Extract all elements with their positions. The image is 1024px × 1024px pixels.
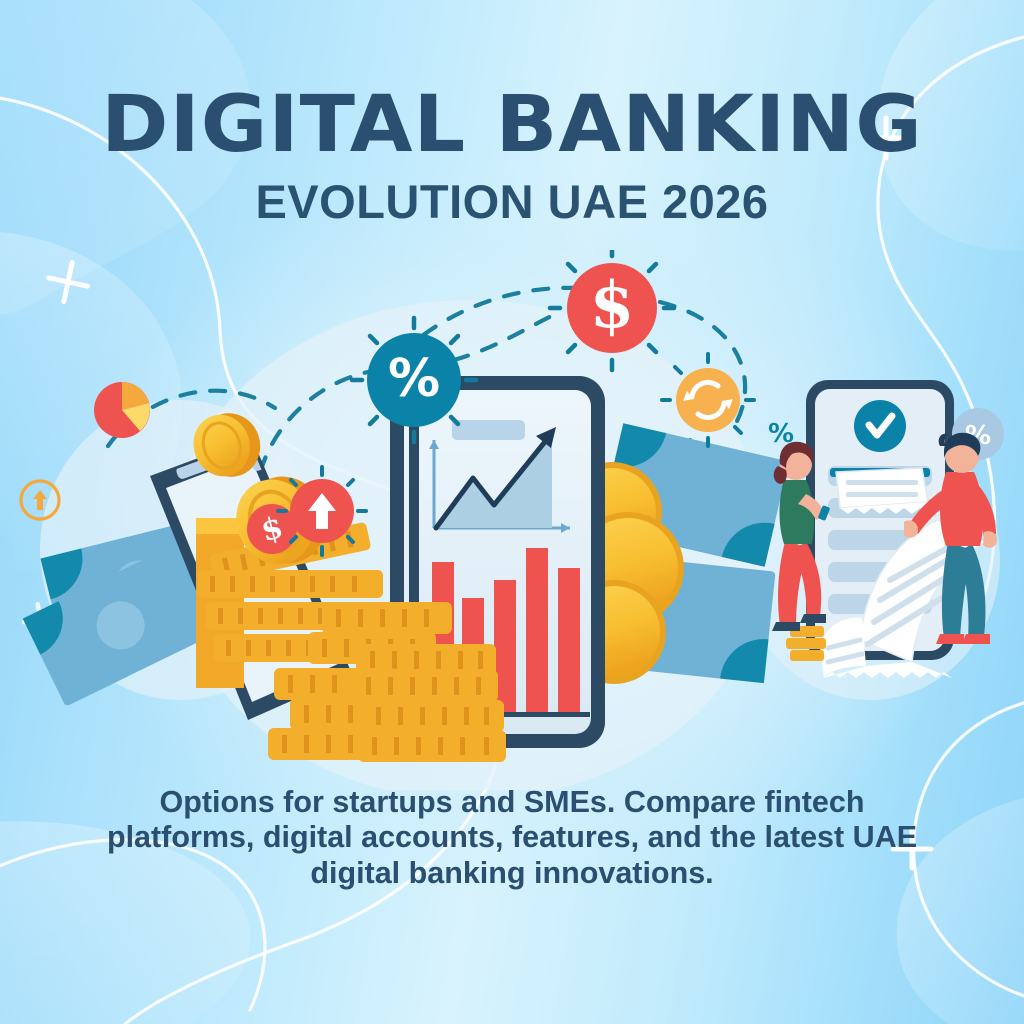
title-block: DIGITAL BANKING EVOLUTION UAE 2026 bbox=[0, 86, 1024, 225]
man-shoe-1 bbox=[936, 634, 964, 644]
coin-slab bbox=[358, 730, 506, 762]
woman-shoe-1 bbox=[772, 622, 800, 631]
page-title: DIGITAL BANKING bbox=[0, 86, 1024, 164]
coin-slab bbox=[362, 700, 504, 732]
dollar-badge-small-icon: $ bbox=[247, 504, 297, 554]
woman-torso bbox=[780, 480, 815, 544]
dollar-badge-group: $ bbox=[550, 250, 674, 370]
receipt-top bbox=[836, 468, 936, 514]
svg-text:$: $ bbox=[590, 268, 635, 343]
caption-block: Options for startups and SMEs. Compare f… bbox=[90, 785, 934, 891]
small-coin-stack bbox=[786, 626, 826, 661]
caption-text: Options for startups and SMEs. Compare f… bbox=[90, 785, 934, 891]
pie-chart-icon bbox=[94, 382, 150, 438]
svg-text:%: % bbox=[388, 349, 440, 409]
hero-illustration: $ bbox=[0, 250, 1024, 790]
man-shoe-2 bbox=[962, 634, 990, 644]
coin-slab bbox=[352, 670, 498, 702]
bar-5 bbox=[558, 568, 580, 712]
tablet-screen-title-bar bbox=[452, 420, 525, 440]
check-circle-icon bbox=[854, 400, 906, 452]
bar-4 bbox=[526, 548, 548, 712]
arrow-up-badge-icon bbox=[278, 467, 366, 555]
coin-slab bbox=[322, 602, 452, 634]
woman-shoe-2 bbox=[800, 614, 826, 623]
right-scene: % % % bbox=[768, 380, 1004, 678]
poster-canvas: DIGITAL BANKING EVOLUTION UAE 2026 bbox=[0, 0, 1024, 1024]
page-subtitle: EVOLUTION UAE 2026 bbox=[0, 178, 1024, 225]
